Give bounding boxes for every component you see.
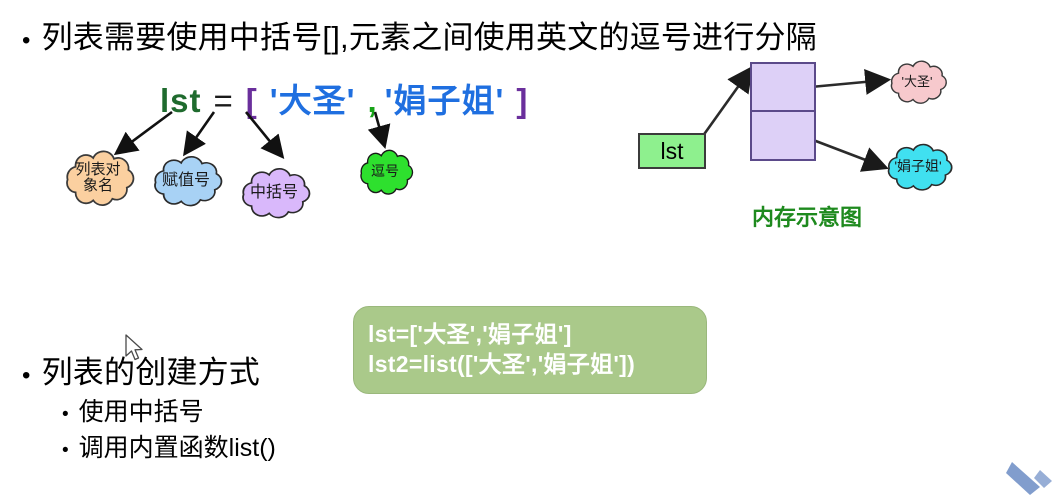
expr-token-string-1: '大圣' [270,82,356,119]
callout-cloud-comma: 逗号 [354,146,416,198]
bullet-text: 列表的创建方式 [42,347,260,392]
memory-cell-1 [752,112,814,160]
memory-diagram-caption: 内存示意图 [752,200,862,232]
expr-token-bracket-close: ] [516,82,528,119]
callout-cloud-list-name: 列表对 象名 [58,146,138,210]
bullet-item-title: • 列表需要使用中括号[],元素之间使用英文的逗号进行分隔 [22,12,817,57]
bullet-text: 调用内置函数list() [79,428,276,464]
bullet-item-use-brackets: • 使用中括号 [62,392,204,428]
bullet-text: 列表需要使用中括号[],元素之间使用英文的逗号进行分隔 [42,12,817,57]
code-expression: lst=['大圣','娟子姐'] [160,74,528,122]
memory-value-label: '大圣' [898,75,937,89]
callout-label: 中括号 [246,184,302,201]
expr-token-equals: = [214,82,234,119]
callout-cloud-brackets: 中括号 [234,164,314,222]
bullet-marker-icon: • [22,29,31,53]
memory-variable-box: lst [638,133,706,169]
code-line-2: lst2=list(['大圣','娟子姐']) [368,349,706,379]
bullet-marker-icon: • [62,405,69,424]
expr-token-comma: , [368,82,378,119]
callout-label: 列表对 象名 [71,162,124,194]
expr-token-bracket-open: [ [246,82,258,119]
expr-token-string-2: '娟子姐' [385,82,505,119]
memory-variable-label: lst [661,138,684,165]
memory-value-cloud-0: '大圣' [884,57,950,107]
memory-cell-0 [752,64,814,112]
code-example-box: lst=['大圣','娟子姐'] lst2=list(['大圣','娟子姐']) [353,306,707,394]
code-line-1: lst=['大圣','娟子姐'] [368,319,706,349]
callout-label: 赋值号 [158,172,214,189]
memory-value-cloud-1: '娟子姐' [880,140,956,194]
bullet-marker-icon: • [62,441,69,460]
expr-token-name: lst [160,82,202,119]
mouse-cursor-icon [124,334,146,364]
bullet-marker-icon: • [22,364,31,388]
bullet-item-use-list-fn: • 调用内置函数list() [62,428,276,464]
bullet-text: 使用中括号 [79,392,204,428]
memory-cells-box [750,62,816,161]
slide-canvas: • 列表需要使用中括号[],元素之间使用英文的逗号进行分隔 lst=['大圣',… [0,0,1059,501]
memory-value-label: '娟子姐' [890,159,945,174]
callout-cloud-assignment: 赋值号 [146,152,226,210]
callout-label: 逗号 [367,164,403,179]
